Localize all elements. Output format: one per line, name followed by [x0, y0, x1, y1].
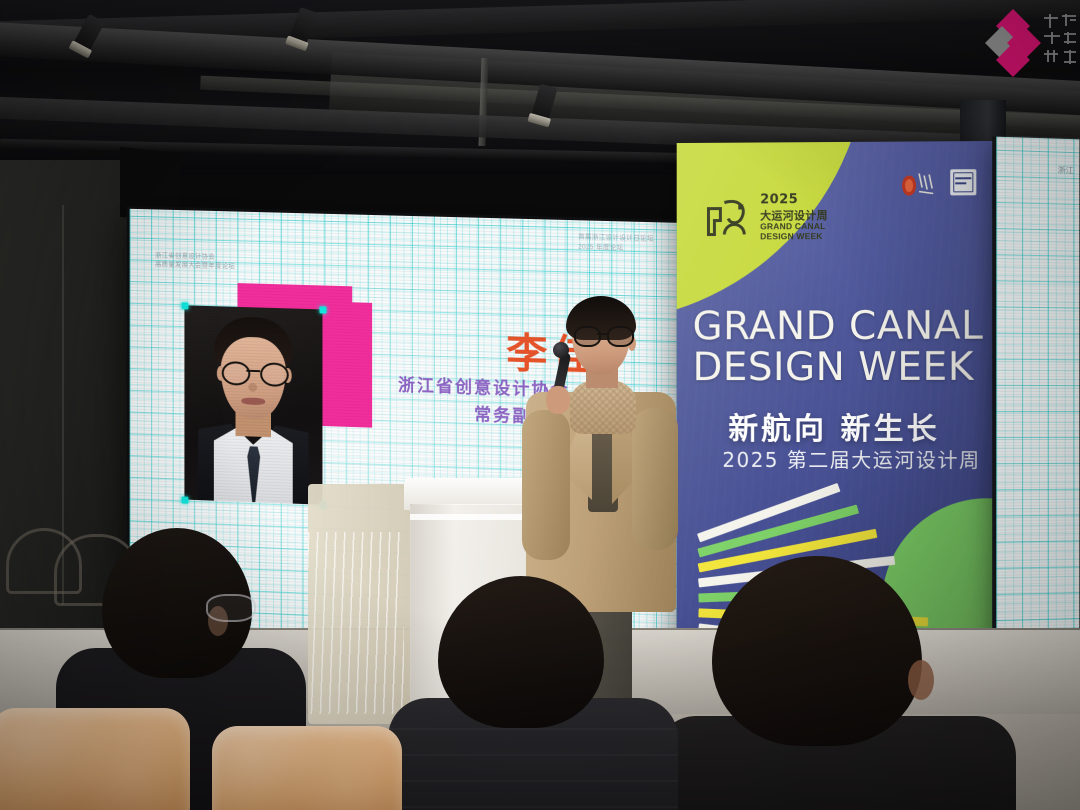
- speaker-portrait: [184, 305, 322, 504]
- audience-member-right: [672, 556, 1002, 810]
- speaker-glasses-icon: [574, 326, 630, 343]
- audience-glasses-icon: [206, 594, 256, 622]
- portrait-nose: [248, 383, 257, 392]
- selection-handle: [181, 302, 188, 309]
- speaker-arm: [632, 408, 678, 550]
- audience-chair: [0, 708, 190, 810]
- selection-handle: [181, 496, 188, 503]
- pink-diamond-logo-watermark: [990, 8, 1070, 74]
- magenta-block: [317, 301, 373, 427]
- screen-grid-background: [996, 137, 1079, 700]
- slide-meta-left: 浙江省创意设计协会 高质量发展大会暨年度论坛: [155, 251, 235, 272]
- diamond-logo-icon: [990, 18, 1036, 72]
- speaker-arm: [522, 410, 570, 560]
- audience-ear: [908, 660, 934, 700]
- microphone-head-icon: [553, 342, 569, 358]
- conference-photo-scene: 浙江省创意设计协会 高质量发展大会暨年度论坛 首届浙江设计设计日论坛 2025 …: [0, 0, 1080, 810]
- puffer-jacket-texture: [388, 726, 678, 810]
- speaker-scarf: [570, 380, 636, 434]
- speaker-hand: [546, 386, 570, 414]
- secondary-screen-text: 浙江: [1058, 165, 1074, 176]
- portrait-glasses-icon: [221, 361, 286, 383]
- portrait-mouth: [241, 397, 265, 405]
- audience-member-center: [398, 576, 668, 810]
- slide-meta-right: 首届浙江设计设计日论坛 2025 年度论坛: [578, 232, 654, 254]
- selection-handle: [319, 306, 326, 313]
- watermark-text: [1040, 12, 1080, 70]
- podium-string-texture: [308, 532, 404, 714]
- secondary-led-screen: 浙江: [996, 137, 1079, 700]
- audience-chair: [212, 726, 402, 810]
